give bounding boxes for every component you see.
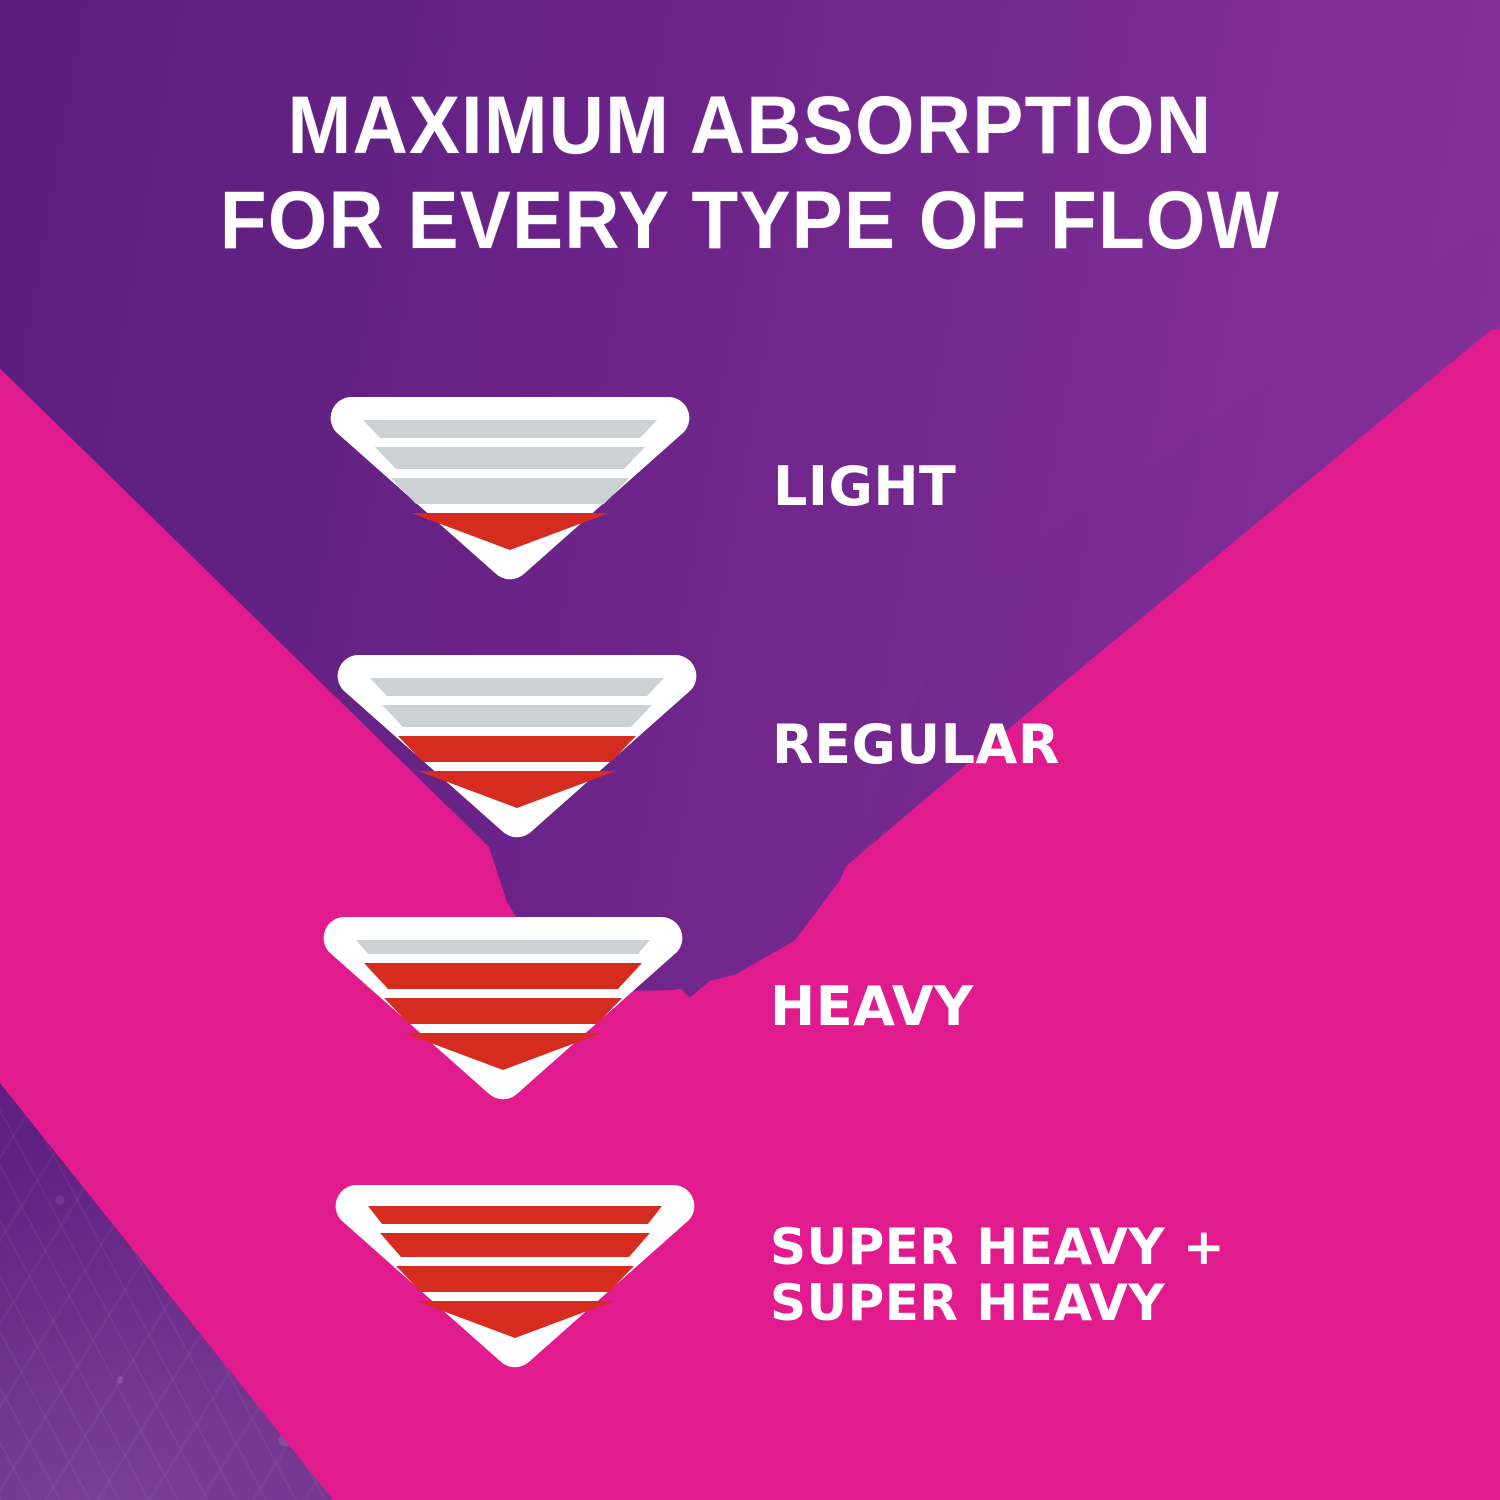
absorbency-label: SUPER HEAVY + SUPER HEAVY xyxy=(770,1219,1225,1331)
absorbency-triangle-icon xyxy=(332,650,702,840)
absorbency-label: REGULAR xyxy=(772,715,1060,775)
absorbency-triangle-icon xyxy=(330,1180,700,1370)
absorbency-list: LIGHT REGULAR xyxy=(0,0,1500,1500)
absorbency-label: LIGHT xyxy=(773,457,956,517)
list-item: SUPER HEAVY + SUPER HEAVY xyxy=(330,1180,1225,1370)
absorbency-triangle-icon xyxy=(318,912,688,1102)
list-item: LIGHT xyxy=(325,392,956,582)
list-item: REGULAR xyxy=(332,650,1060,840)
infographic-canvas: MAXIMUM ABSORPTION FOR EVERY TYPE OF FLO… xyxy=(0,0,1500,1500)
list-item: HEAVY xyxy=(318,912,974,1102)
absorbency-triangle-icon xyxy=(325,392,695,582)
absorbency-label: HEAVY xyxy=(770,977,974,1037)
